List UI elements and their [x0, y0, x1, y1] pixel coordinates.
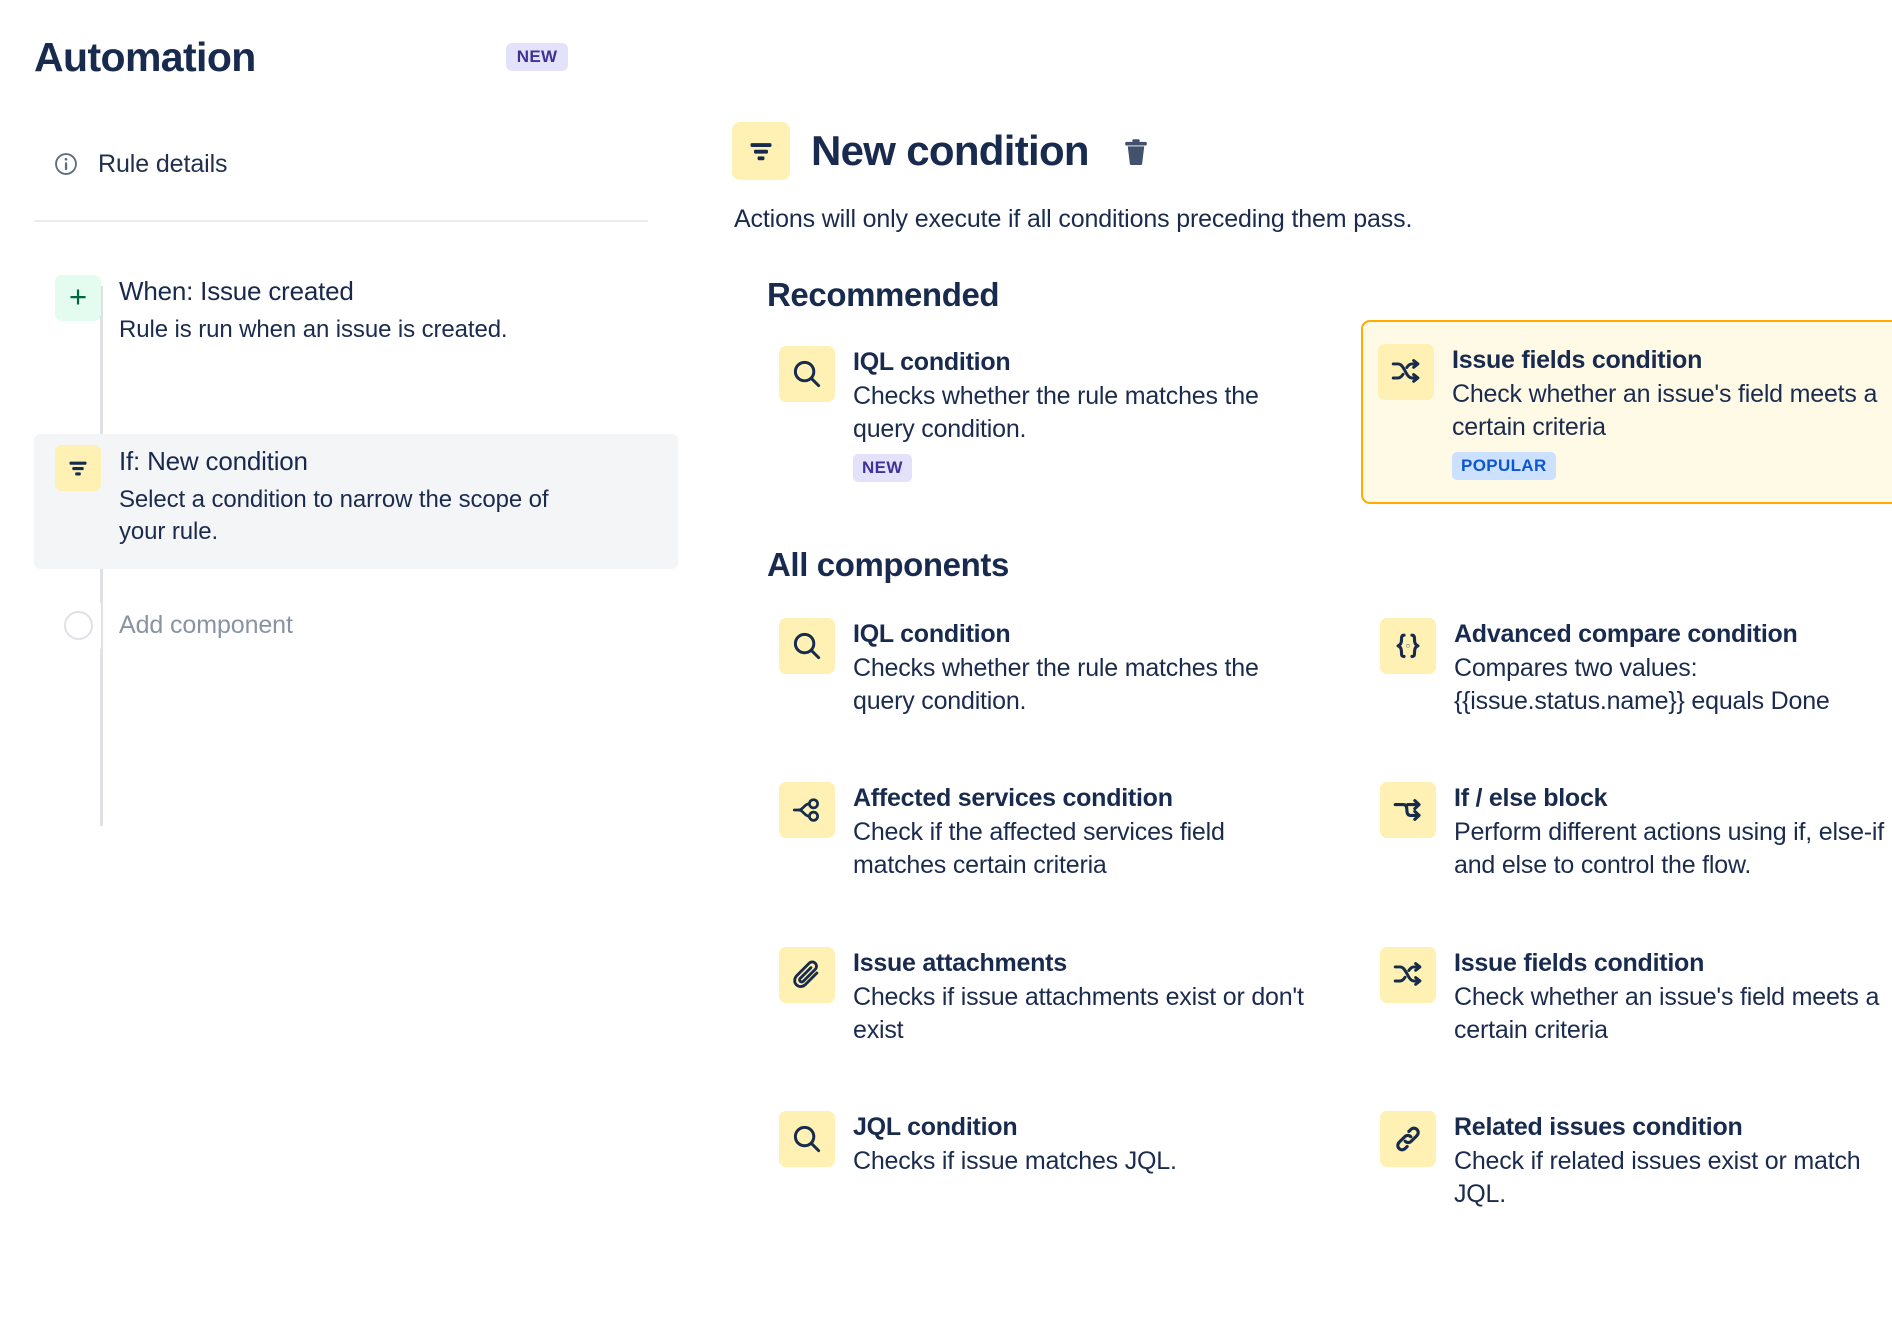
component-title: Issue attachments	[853, 948, 1306, 978]
component-title: Advanced compare condition	[1454, 619, 1892, 649]
component-title: IQL condition	[853, 347, 1306, 377]
component-title: Issue fields condition	[1454, 948, 1892, 978]
component-title: If / else block	[1454, 783, 1892, 813]
component-card-iql-condition[interactable]: IQL condition Checks whether the rule ma…	[762, 330, 1322, 504]
chain-item-title: If: New condition	[119, 446, 549, 478]
panel-header: New condition	[732, 122, 1892, 180]
sidebar-divider	[34, 220, 648, 222]
chain-item-desc: Rule is run when an issue is created.	[119, 314, 508, 346]
chain-item-title: When: Issue created	[119, 276, 508, 308]
paperclip-icon	[779, 947, 835, 1003]
chain-item-trigger[interactable]: + When: Issue created Rule is run when a…	[34, 264, 678, 366]
shuffle-icon	[1378, 344, 1434, 400]
component-desc: Perform different actions using if, else…	[1454, 816, 1892, 883]
chain-item-condition[interactable]: If: New condition Select a condition to …	[34, 434, 678, 569]
chain-spacer	[34, 366, 678, 434]
all-components-grid: IQL condition Checks whether the rule ma…	[762, 602, 1892, 1228]
add-component-button[interactable]: Add component	[34, 603, 678, 649]
chain-item-desc: Select a condition to narrow the scope o…	[119, 484, 549, 549]
component-desc: Checks if issue attachments exist or don…	[853, 981, 1306, 1048]
component-desc: Check if the affected services field mat…	[853, 816, 1306, 883]
page-header: Automation NEW	[34, 26, 678, 88]
component-card-issue-fields-condition[interactable]: Issue fields condition Check whether an …	[1361, 320, 1892, 504]
component-card-iql-condition[interactable]: IQL condition Checks whether the rule ma…	[762, 602, 1322, 735]
status-badge: NEW	[853, 454, 912, 482]
add-component-label: Add component	[119, 611, 293, 640]
filter-icon	[55, 445, 101, 491]
panel-subtitle: Actions will only execute if all conditi…	[734, 205, 1892, 234]
page-title: Automation	[34, 37, 256, 78]
component-title: Affected services condition	[853, 783, 1306, 813]
plus-icon: +	[55, 275, 101, 321]
condition-picker-panel: New condition Actions will only execute …	[712, 0, 1892, 1344]
component-desc: Checks whether the rule matches the quer…	[853, 380, 1306, 447]
component-title: Related issues condition	[1454, 1112, 1892, 1142]
component-card-issue-fields-condition[interactable]: Issue fields condition Check whether an …	[1363, 931, 1892, 1064]
search-icon	[779, 346, 835, 402]
filter-icon	[732, 122, 790, 180]
component-title: JQL condition	[853, 1112, 1177, 1142]
component-desc: Check whether an issue's field meets a c…	[1452, 378, 1892, 445]
component-desc: Checks whether the rule matches the quer…	[853, 652, 1306, 719]
automation-page: Automation NEW Rule details +	[0, 0, 1892, 1344]
app-new-badge: NEW	[506, 43, 569, 71]
component-card-if-else-block[interactable]: If / else block Perform different action…	[1363, 766, 1892, 899]
component-desc: Check whether an issue's field meets a c…	[1454, 981, 1892, 1048]
component-desc: Compares two values: {{issue.status.name…	[1454, 652, 1892, 719]
info-icon	[53, 151, 79, 177]
panel-title: New condition	[811, 130, 1089, 172]
rule-chain: + When: Issue created Rule is run when a…	[34, 264, 678, 649]
rule-sidebar: Automation NEW Rule details +	[0, 0, 712, 1344]
affected-services-icon	[779, 782, 835, 838]
all-components-heading: All components	[767, 546, 1892, 584]
status-badge: POPULAR	[1452, 452, 1556, 480]
component-card-jql-condition[interactable]: JQL condition Checks if issue matches JQ…	[762, 1095, 1322, 1228]
shuffle-icon	[1380, 947, 1436, 1003]
component-desc: Checks if issue matches JQL.	[853, 1145, 1177, 1178]
if-else-icon	[1380, 782, 1436, 838]
circle-outline-icon	[55, 603, 101, 649]
recommended-heading: Recommended	[767, 276, 1892, 314]
search-icon	[779, 618, 835, 674]
component-card-affected-services-condition[interactable]: Affected services condition Check if the…	[762, 766, 1322, 899]
component-card-advanced-compare-condition[interactable]: Advanced compare condition Compares two …	[1363, 602, 1892, 735]
rule-details-label: Rule details	[98, 150, 227, 179]
search-icon	[779, 1111, 835, 1167]
trash-icon[interactable]	[1116, 133, 1156, 173]
component-title: Issue fields condition	[1452, 345, 1892, 375]
component-title: IQL condition	[853, 619, 1306, 649]
recommended-grid: IQL condition Checks whether the rule ma…	[762, 330, 1892, 504]
braces-icon	[1380, 618, 1436, 674]
link-icon	[1380, 1111, 1436, 1167]
component-desc: Check if related issues exist or match J…	[1454, 1145, 1892, 1212]
component-card-issue-attachments[interactable]: Issue attachments Checks if issue attach…	[762, 931, 1322, 1064]
rule-details-item[interactable]: Rule details	[34, 144, 678, 184]
component-card-related-issues-condition[interactable]: Related issues condition Check if relate…	[1363, 1095, 1892, 1228]
